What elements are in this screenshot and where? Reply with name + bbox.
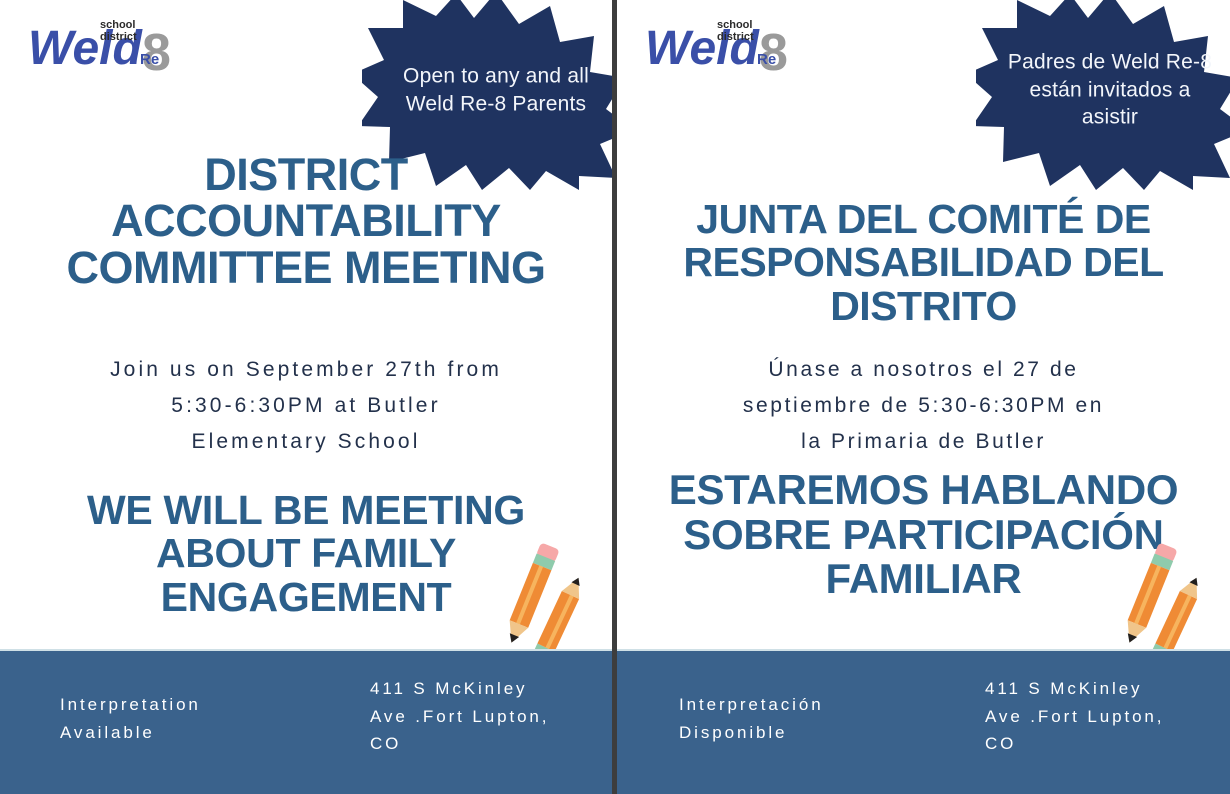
svg-text:district: district (100, 31, 137, 43)
panel-title: JUNTA DEL COMITÉ DE RESPONSABILIDAD DEL … (617, 198, 1230, 328)
weld-re8-logo: Weld school district 8 Re (645, 14, 825, 76)
panel-details: Únase a nosotros el 27 de septiembre de … (617, 352, 1230, 460)
pencils-icon (1108, 534, 1216, 664)
flyer-panel-spanish: Weld school district 8 Re Padres de Weld… (617, 0, 1230, 794)
weld-re8-logo: Weld school district 8 Re (28, 14, 208, 76)
footer-address: 411 S McKinley Ave .Fort Lupton, CO (985, 675, 1164, 758)
footer-interpretation: Interpretation Available (60, 691, 201, 746)
footer-address: 411 S McKinley Ave .Fort Lupton, CO (370, 675, 549, 758)
flyer-pair: Weld school district 8 Re Open to any an… (0, 0, 1230, 794)
svg-text:school: school (100, 19, 135, 31)
pencils-icon (490, 534, 598, 664)
flyer-panel-english: Weld school district 8 Re Open to any an… (0, 0, 612, 794)
svg-text:district: district (717, 31, 754, 43)
svg-text:school: school (717, 19, 752, 31)
badge-text: Padres de Weld Re-8 están invitados a as… (976, 48, 1230, 131)
badge-text: Open to any and all Weld Re-8 Parents (362, 62, 612, 117)
svg-text:Re: Re (757, 51, 776, 68)
badge-starburst: Padres de Weld Re-8 están invitados a as… (976, 0, 1230, 190)
svg-text:Re: Re (140, 51, 159, 68)
svg-text:8: 8 (759, 24, 788, 76)
svg-text:8: 8 (142, 24, 171, 76)
panel-title: DISTRICT ACCOUNTABILITY COMMITTEE MEETIN… (0, 152, 612, 291)
panel-footer: Interpretation Available 411 S McKinley … (0, 649, 612, 794)
panel-footer: Interpretación Disponible 411 S McKinley… (617, 649, 1230, 794)
panel-details: Join us on September 27th from 5:30-6:30… (0, 352, 612, 460)
footer-interpretation: Interpretación Disponible (679, 691, 824, 746)
